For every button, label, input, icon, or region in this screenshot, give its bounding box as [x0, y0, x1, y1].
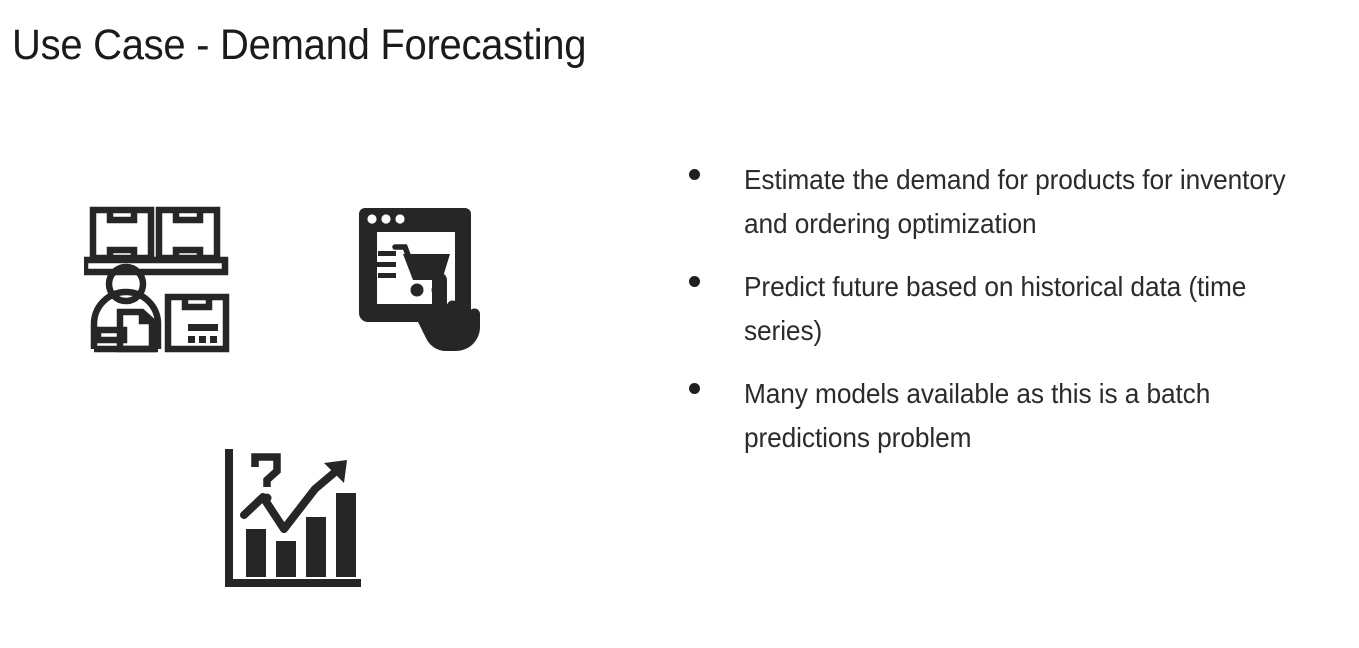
bullet-dot-icon [682, 265, 744, 287]
bullet-text: Many models available as this is a batch… [744, 372, 1327, 460]
bullet-text: Estimate the demand for products for inv… [744, 158, 1327, 246]
bullet-dot-icon [682, 158, 744, 180]
list-item: Predict future based on historical data … [682, 265, 1354, 353]
bullet-text: Predict future based on historical data … [744, 265, 1327, 353]
bullet-list: Estimate the demand for products for inv… [682, 158, 1354, 479]
bullet-dot-icon [682, 372, 744, 394]
icon-cluster [0, 0, 640, 648]
list-item: Estimate the demand for products for inv… [682, 158, 1354, 246]
demand-forecast-chart-icon [221, 445, 366, 595]
list-item: Many models available as this is a batch… [682, 372, 1354, 460]
slide-canvas: Use Case - Demand Forecasting [0, 0, 1359, 648]
warehouse-inventory-icon [84, 202, 234, 358]
ecommerce-browser-icon [358, 202, 492, 358]
